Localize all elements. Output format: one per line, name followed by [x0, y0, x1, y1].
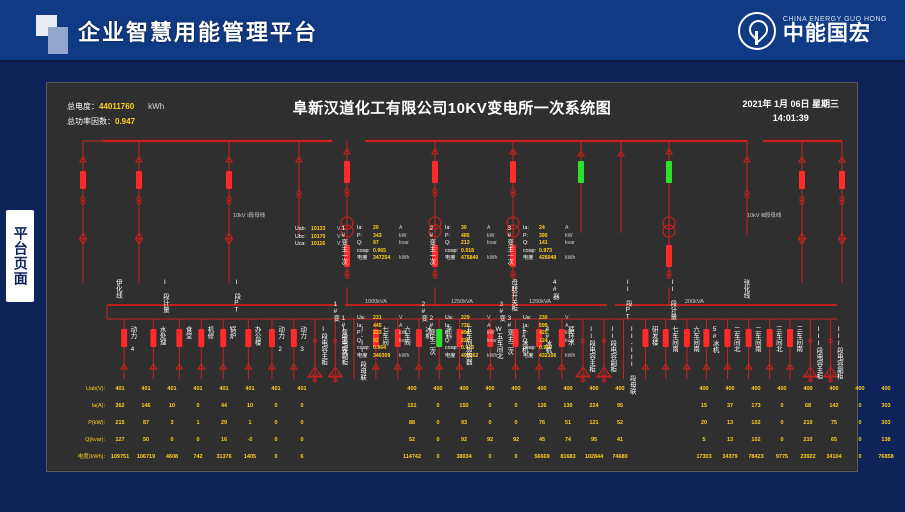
sidebar-item-platform-page[interactable]: 平台页面 — [6, 210, 34, 302]
feeder-label[interactable]: III段电容主柜 — [814, 326, 821, 380]
feeder-label[interactable]: I-II 段母联 — [358, 326, 365, 381]
table-cell: 210 — [795, 434, 821, 446]
table-cell: 0 — [263, 434, 289, 446]
table-cell: -0 — [237, 434, 263, 446]
hv1-q-unit: kvar — [399, 240, 409, 246]
table-cell: 13 — [717, 417, 743, 429]
hv3-p-value: 390 — [539, 233, 565, 241]
feeder-label[interactable]: 食堂 — [183, 326, 190, 339]
table-cell: 76 — [529, 417, 555, 429]
table-cell: 44 — [211, 400, 237, 412]
feeder-switch[interactable] — [220, 329, 226, 347]
logo-square-dark-icon — [48, 27, 68, 54]
xfmr-3-tag: 3#变 — [497, 301, 504, 322]
feeder-switch[interactable] — [767, 329, 773, 347]
table-cell: 45 — [529, 434, 555, 446]
hv2-kwh-key: 电度 — [445, 255, 461, 263]
table-cell: 401 — [133, 383, 159, 395]
feeder-label[interactable]: 五车间加热器 — [463, 326, 470, 365]
table-cell: 37 — [717, 400, 743, 412]
hv3-kwh-key: 电度 — [523, 255, 539, 263]
uab-value: 10133 — [311, 226, 337, 234]
hv2-kwh-value: 475840 — [461, 255, 487, 263]
table-cell: 1 — [237, 417, 263, 429]
table-cell: 10 — [159, 400, 185, 412]
table-cell: 173 — [743, 400, 769, 412]
table-cell: 130 — [555, 400, 581, 412]
feeder-label[interactable]: 六车间 — [402, 326, 409, 346]
lv2-ia-unit: A — [487, 323, 490, 329]
table-cell: 400 — [743, 383, 769, 395]
feeder-label[interactable]: 锅炉 — [227, 326, 234, 339]
table-cell: 6 — [285, 451, 319, 463]
table-cell: 146 — [133, 400, 159, 412]
feeder-label[interactable]: I段电容副柜 — [339, 326, 346, 366]
table-cell: 401 — [263, 383, 289, 395]
table-cell: 0 — [769, 400, 795, 412]
top-cabinet-label: II 段PT — [624, 279, 631, 321]
lv3-kwh-key: 电度 — [523, 353, 539, 361]
hv3-ia-unit: A — [565, 225, 568, 231]
table-cell: 401 — [159, 383, 185, 395]
table-cell: 92 — [451, 434, 477, 446]
feeder-label[interactable]: 研发楼 — [649, 326, 656, 346]
feeder-label[interactable]: II段电容副柜 — [608, 326, 615, 373]
table-cell: 210 — [795, 417, 821, 429]
table-cell: 74 — [555, 434, 581, 446]
feeder-label[interactable]: 二车间北 — [731, 326, 738, 352]
feeder-label[interactable]: 冰机 — [423, 326, 430, 339]
feeder-label[interactable]: 三车间南 — [794, 326, 801, 352]
lv1-cos-value: 0.964 — [373, 345, 399, 353]
bus-label-right: 10kV Ⅲ段母线 — [747, 211, 781, 219]
hv-meter-3-name: 3#变主一次 — [505, 225, 512, 265]
feeder-switch[interactable] — [416, 329, 422, 347]
xfmr-1-tag: 1#变 — [331, 301, 338, 322]
table-cell: 400 — [581, 383, 607, 395]
brand-mark-icon — [738, 12, 776, 50]
top-cabinet-label: 张化线 — [741, 279, 748, 299]
table-cell: 400 — [477, 383, 503, 395]
lv3-ua-unit: V — [565, 315, 568, 321]
table-cell: 50 — [133, 434, 159, 446]
table-cell: 121 — [581, 417, 607, 429]
lv-meter-2: Ua:229V Ia:730A P:494kW Q:228kvar cosφ:0… — [445, 315, 497, 361]
table-cell: 0 — [477, 400, 503, 412]
brand-name-cn: 中能国宏 — [783, 23, 887, 45]
hv1-q-key: Q: — [357, 240, 373, 248]
hv3-p-key: P: — [523, 233, 539, 241]
table-cell: 400 — [769, 383, 795, 395]
table-cell: 400 — [847, 383, 873, 395]
table-cell: 68 — [795, 400, 821, 412]
table-cell: 102 — [743, 417, 769, 429]
table-cell: 0 — [503, 400, 529, 412]
table-cell: 401 — [211, 383, 237, 395]
lv3-ua-key: Ua: — [523, 315, 539, 323]
top-cabinet-label: 伊化线 — [114, 279, 121, 299]
lv2-ua-unit: V — [487, 315, 490, 321]
xfmr-4-rating: 200kVA — [685, 299, 704, 305]
table-cell: 303 — [873, 400, 899, 412]
feeder-label[interactable]: 动力 4 — [128, 326, 135, 353]
hv2-kwh-unit: kWh — [487, 255, 497, 261]
xfmr-2-rating: 1250kVA — [451, 299, 473, 305]
top-cabinet-label: I 段PT — [232, 279, 239, 314]
table-cell: 74680 — [603, 451, 637, 463]
table-cell: 0 — [477, 417, 503, 429]
hv1-ia-unit: A — [399, 225, 402, 231]
lv-meter-3-name: 3#变主二次 — [505, 315, 512, 355]
feeder-label[interactable]: 七车间 — [380, 326, 387, 346]
hv1-p-value: 343 — [373, 233, 399, 241]
table-row: Q(kvar):127500016-0005209292924574954151… — [47, 434, 859, 451]
table-row-label: Ia(A): — [53, 400, 105, 412]
feeder-switch[interactable] — [291, 329, 297, 347]
table-cell: 93 — [451, 417, 477, 429]
feeder-label[interactable]: 动力 2 — [276, 326, 283, 353]
table-cell: 1 — [185, 417, 211, 429]
table-cell: 215 — [107, 417, 133, 429]
table-cell: 65 — [821, 434, 847, 446]
lv1-kwh-unit: kWh — [399, 353, 409, 359]
table-cell: 400 — [529, 383, 555, 395]
hv3-p-unit: kW — [565, 233, 573, 239]
table-cell: 0 — [769, 434, 795, 446]
table-cell: 400 — [451, 383, 477, 395]
feeder-label[interactable]: III段电容副柜 — [835, 326, 842, 380]
hv3-kwh-value: 426049 — [539, 255, 565, 263]
table-cell: 51 — [555, 417, 581, 429]
table-cell: 400 — [717, 383, 743, 395]
table-row-label: P(kW): — [53, 417, 105, 429]
hv-meter-2-name: 2#变主一次 — [427, 225, 434, 265]
hv1-ia-key: Ia: — [357, 225, 373, 233]
table-row-label: Q(kvar): — [53, 434, 105, 446]
table-cell: 362 — [107, 400, 133, 412]
hv1-kwh-value: 347254 — [373, 255, 399, 263]
table-cell: 5 — [691, 434, 717, 446]
feeder-switch[interactable] — [684, 329, 690, 347]
feeder-switch[interactable] — [176, 329, 182, 347]
hv2-p-key: P: — [445, 233, 461, 241]
hv1-kwh-key: 电度 — [357, 255, 373, 263]
hv3-cos-value: 0.973 — [539, 248, 565, 256]
table-cell: 102 — [743, 434, 769, 446]
lv1-ua-key: Ua: — [357, 315, 373, 323]
feeder-label[interactable]: 七车间南 — [670, 326, 677, 352]
feeder-label[interactable]: 4#冰机 — [543, 326, 550, 353]
top-cabinet-label: 4#器 — [550, 279, 557, 300]
table-cell: 400 — [503, 383, 529, 395]
table-cell: 151 — [399, 400, 425, 412]
table-cell: 0 — [263, 417, 289, 429]
feeder-switch[interactable] — [746, 329, 752, 347]
bus-voltage-readings: Uab:10133V Ubc:10170V Uca:10116V — [295, 226, 340, 249]
brand-logo: CHINA ENERGY GUO HONG 中能国宏 — [738, 9, 887, 53]
table-cell: 401 — [237, 383, 263, 395]
table-cell: 0 — [425, 400, 451, 412]
hv2-q-key: Q: — [445, 240, 461, 248]
lv1-kwh-value: 340309 — [373, 353, 399, 361]
table-cell: 0 — [185, 400, 211, 412]
xfmr-2-tag: 2#变 — [419, 301, 426, 322]
table-cell: 0 — [289, 400, 315, 412]
table-cell: 3 — [159, 417, 185, 429]
table-cell: 0 — [159, 434, 185, 446]
feeder-label[interactable]: 5#冰机 — [710, 326, 717, 353]
table-row-label: Uab(V): — [53, 383, 105, 395]
table-cell: 10 — [237, 400, 263, 412]
feeder-label[interactable]: 1#冰机 — [520, 326, 527, 353]
table-cell: 0 — [769, 417, 795, 429]
lv2-ua-value: 229 — [461, 315, 487, 323]
hv3-q-unit: kvar — [565, 240, 575, 246]
table-cell: 15 — [691, 400, 717, 412]
table-cell: 0 — [263, 400, 289, 412]
hv2-q-unit: kvar — [487, 240, 497, 246]
feeder-switch[interactable] — [150, 329, 156, 347]
table-cell: 126 — [529, 400, 555, 412]
hv3-kwh-unit: kWh — [565, 255, 575, 261]
bus-label-left: 10kV Ⅰ段母线 — [233, 211, 265, 219]
table-cell: 88 — [399, 417, 425, 429]
table-cell: 0 — [847, 434, 873, 446]
feeder-label[interactable]: 二车间南 — [753, 326, 760, 352]
table-cell: 0 — [289, 434, 315, 446]
hv2-ia-value: 30 — [461, 225, 487, 233]
feeder-switch[interactable] — [436, 329, 442, 347]
table-cell: 400 — [399, 383, 425, 395]
lv3-kwh-value: 432106 — [539, 353, 565, 361]
feeder-label[interactable]: 机修 — [205, 326, 212, 339]
table-cell: 29 — [211, 417, 237, 429]
lv1-ua-unit: V — [399, 315, 402, 321]
uca-value: 10116 — [311, 241, 337, 249]
hv1-kwh-unit: kWh — [399, 255, 409, 261]
xfmr-3-rating: 1250kVA — [529, 299, 551, 305]
table-cell: 401 — [107, 383, 133, 395]
feeder-label[interactable]: 六车间南 — [691, 326, 698, 352]
lv3-kwh-unit: kWh — [565, 353, 575, 359]
table-cell: 0 — [185, 434, 211, 446]
feeder-switch[interactable] — [703, 329, 709, 347]
sld-panel: 总电度：44011760kWh 总功率因数：0.947 阜新汉道化工有限公司10… — [46, 82, 858, 472]
table-cell: 400 — [873, 383, 899, 395]
table-cell: 76858 — [869, 451, 903, 463]
table-cell: 400 — [425, 383, 451, 395]
hv2-p-unit: kW — [487, 233, 495, 239]
table-cell: 0 — [847, 400, 873, 412]
hv-meter-1-name: 1#变主一次 — [339, 225, 346, 265]
feeder-label[interactable]: 循环水 — [566, 326, 573, 346]
app-root: 企业智慧用能管理平台 CHINA ENERGY GUO HONG 中能国宏 平台… — [0, 0, 905, 512]
feeder-switch[interactable] — [121, 329, 127, 347]
page-title: 企业智慧用能管理平台 — [78, 15, 318, 47]
hv-meter-1: Ia:20A P:343kW Q:97kvar cosφ:0.965 电度347… — [357, 225, 409, 263]
table-cell: 138 — [873, 434, 899, 446]
feeder-switch[interactable] — [642, 329, 648, 347]
feeder-label[interactable]: 水处理 — [157, 326, 164, 346]
table-cell: 16 — [211, 434, 237, 446]
ubc-value: 10170 — [311, 234, 337, 242]
table-row: 电度(kWh):10975110671946087423137614050611… — [47, 451, 859, 468]
hv3-ia-value: 24 — [539, 225, 565, 233]
table-cell: 0 — [503, 417, 529, 429]
feeder-label[interactable]: W五车间北 — [494, 326, 501, 359]
top-cabinet-label: 母联开关柜 — [509, 279, 516, 312]
feeder-label[interactable]: 动力 3 — [298, 326, 305, 353]
hv1-p-key: P: — [357, 233, 373, 241]
table-cell: 303 — [873, 417, 899, 429]
table-cell: 95 — [607, 400, 633, 412]
lv2-cos-key: cosφ: — [445, 345, 461, 353]
feeder-label[interactable]: 三车间北 — [774, 326, 781, 352]
table-cell: 400 — [821, 383, 847, 395]
table-cell: 0 — [425, 417, 451, 429]
lv2-ua-key: Ua: — [445, 315, 461, 323]
table-cell: 224 — [581, 400, 607, 412]
hv1-q-value: 97 — [373, 240, 399, 248]
hv2-ia-unit: A — [487, 225, 490, 231]
lv2-kwh-key: 电度 — [445, 353, 461, 361]
feeder-switch[interactable] — [198, 329, 204, 347]
table-cell: 150 — [451, 400, 477, 412]
feeder-switch[interactable] — [724, 329, 730, 347]
hv2-q-value: 213 — [461, 240, 487, 248]
table-cell: 41 — [607, 434, 633, 446]
uab-key: Uab: — [295, 226, 311, 234]
feeder-label[interactable]: 办公楼 — [252, 326, 259, 346]
hv2-cos-value: 0.918 — [461, 248, 487, 256]
feeder-switch[interactable] — [513, 329, 519, 347]
feeder-label[interactable]: 涂料 — [443, 326, 450, 339]
xfmr-1-rating: 1000kVA — [365, 299, 387, 305]
table-cell: 127 — [107, 434, 133, 446]
table-row: Uab(V):401401401401401401401401400400400… — [47, 383, 859, 400]
table-cell: 0 — [289, 417, 315, 429]
table-cell: 400 — [795, 383, 821, 395]
hv-meter-3: Ia:24A P:390kW Q:141kvar cosφ:0.973 电度42… — [523, 225, 575, 263]
measurement-table: Uab(V):401401401401401401401401400400400… — [47, 383, 859, 473]
table-row: Ia(A):3621461004410001510150001261302249… — [47, 400, 859, 417]
uca-key: Uca: — [295, 241, 311, 249]
hv2-p-value: 485 — [461, 233, 487, 241]
table-cell: 142 — [821, 400, 847, 412]
feeder-switch[interactable] — [269, 329, 275, 347]
hv3-q-value: 141 — [539, 240, 565, 248]
table-row-label: 电度(kWh): — [53, 451, 105, 463]
table-cell: 52 — [607, 417, 633, 429]
feeder-label[interactable]: II段电容主柜 — [587, 326, 594, 373]
feeder-switch[interactable] — [663, 329, 669, 347]
ubc-key: Ubc: — [295, 234, 311, 242]
table-cell: 400 — [555, 383, 581, 395]
table-cell: 0 — [847, 417, 873, 429]
table-cell: 401 — [289, 383, 315, 395]
feeder-label[interactable]: I段电容主柜 — [319, 326, 326, 366]
hv3-q-key: Q: — [523, 240, 539, 248]
hv1-cos-value: 0.965 — [373, 248, 399, 256]
lv1-ua-value: 231 — [373, 315, 399, 323]
table-cell: 87 — [133, 417, 159, 429]
table-cell: 400 — [607, 383, 633, 395]
hv3-ia-key: Ia: — [523, 225, 539, 233]
top-cabinet-label: II 段计量 — [668, 279, 675, 320]
table-cell: 401 — [185, 383, 211, 395]
hv1-ia-value: 20 — [373, 225, 399, 233]
table-cell: 75 — [821, 417, 847, 429]
table-cell: 95 — [581, 434, 607, 446]
table-cell: 400 — [691, 383, 717, 395]
table-cell: 92 — [503, 434, 529, 446]
hv2-ia-key: Ia: — [445, 225, 461, 233]
table-cell: 52 — [399, 434, 425, 446]
top-cabinet-label: I 段计量 — [161, 279, 168, 313]
feeder-switch[interactable] — [787, 329, 793, 347]
lv3-ua-value: 230 — [539, 315, 565, 323]
hv1-p-unit: kW — [399, 233, 407, 239]
table-row: P(kW):2158731291008809300765112152201310… — [47, 417, 859, 434]
table-cell: 92 — [477, 434, 503, 446]
feeder-switch[interactable] — [245, 329, 251, 347]
table-cell: 0 — [425, 434, 451, 446]
app-header: 企业智慧用能管理平台 CHINA ENERGY GUO HONG 中能国宏 — [0, 0, 905, 62]
table-cell: 20 — [691, 417, 717, 429]
table-cell: 13 — [717, 434, 743, 446]
hv-meter-2: Ia:30A P:485kW Q:213kvar cosφ:0.918 电度47… — [445, 225, 497, 263]
